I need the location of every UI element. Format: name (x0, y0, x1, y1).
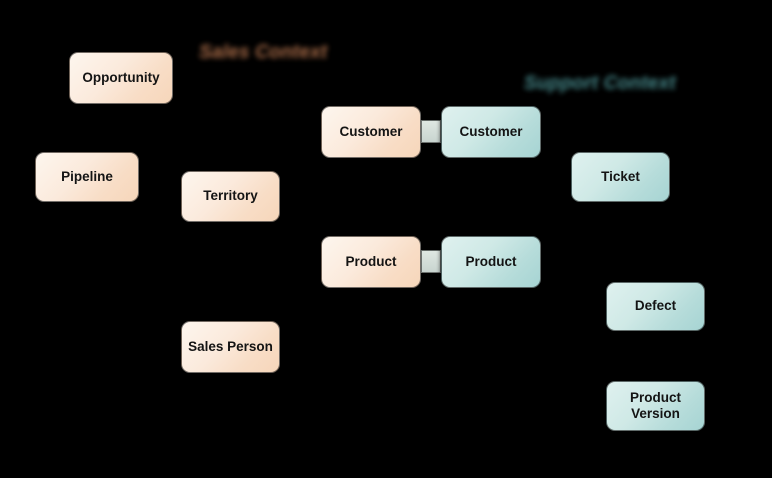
entity-label-product-version: Product Version (620, 390, 692, 423)
entity-product-version[interactable]: Product Version (606, 381, 705, 431)
context-title-support: Support Context (524, 73, 676, 95)
context-title-sales: Sales Context (199, 42, 327, 64)
entity-label-customer-sales: Customer (339, 124, 402, 140)
entity-territory[interactable]: Territory (181, 171, 280, 222)
entity-customer-support[interactable]: Customer (441, 106, 541, 158)
entity-label-territory: Territory (203, 188, 258, 204)
entity-label-pipeline: Pipeline (61, 169, 113, 185)
connector-product-link (421, 250, 441, 273)
entity-sales-person[interactable]: Sales Person (181, 321, 280, 373)
entity-label-sales-person: Sales Person (188, 339, 273, 355)
entity-opportunity[interactable]: Opportunity (69, 52, 173, 104)
entity-label-customer-support: Customer (459, 124, 522, 140)
entity-label-defect: Defect (635, 298, 676, 314)
entity-product-support[interactable]: Product (441, 236, 541, 288)
entity-label-opportunity: Opportunity (82, 70, 159, 86)
entity-product-sales[interactable]: Product (321, 236, 421, 288)
entity-label-ticket: Ticket (601, 169, 640, 185)
diagram-canvas: Sales Context Support Context Opportunit… (0, 0, 772, 478)
entity-label-product-support: Product (465, 254, 516, 270)
entity-defect[interactable]: Defect (606, 282, 705, 331)
entity-ticket[interactable]: Ticket (571, 152, 670, 202)
connector-customer-link (421, 120, 441, 143)
entity-customer-sales[interactable]: Customer (321, 106, 421, 158)
entity-label-product-sales: Product (345, 254, 396, 270)
entity-pipeline[interactable]: Pipeline (35, 152, 139, 202)
